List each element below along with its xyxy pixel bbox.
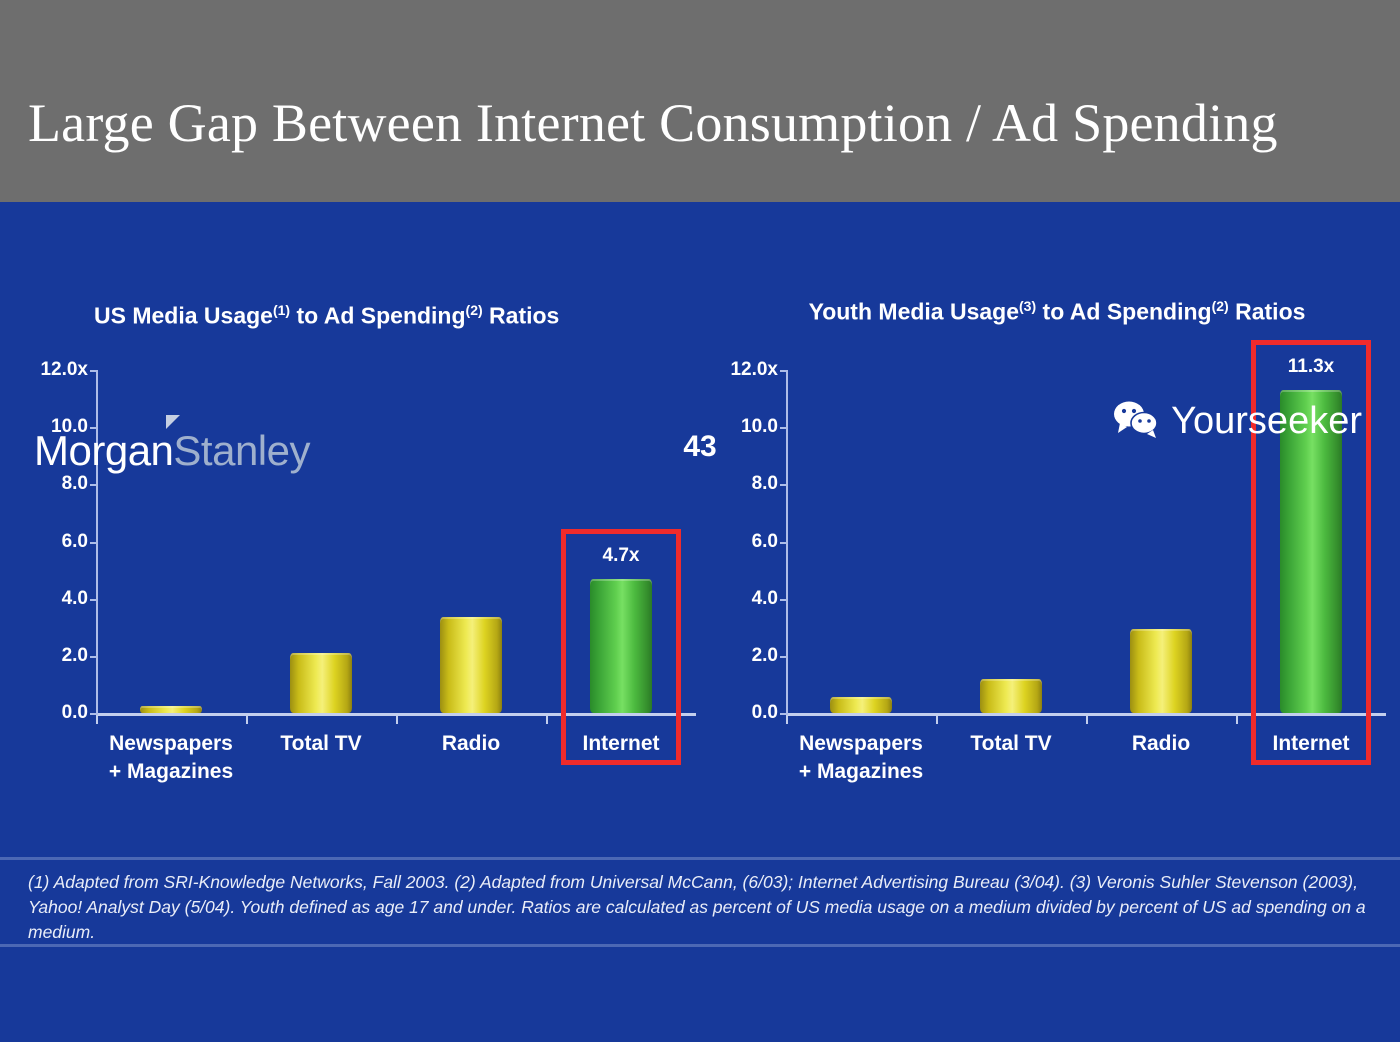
y-tick-label: 8.0 (22, 473, 88, 495)
y-tick-label: 6.0 (712, 531, 778, 553)
y-tick-mark (90, 370, 98, 372)
x-axis-label-line: + Magazines (81, 758, 261, 786)
y-tick-label: 4.0 (22, 588, 88, 610)
x-tick-mark (1086, 715, 1088, 724)
footnote-ref-1: (1) (273, 302, 290, 318)
x-axis-label: Internet (1221, 730, 1400, 758)
x-tick-mark (396, 715, 398, 724)
y-axis-labels-left: 0.02.04.06.08.010.012.0x (22, 370, 88, 720)
y-axis-labels-right: 0.02.04.06.08.010.012.0x (712, 370, 778, 720)
slide-body: US Media Usage(1) to Ad Spending(2) Rati… (0, 202, 1400, 1042)
footnote-divider-top (0, 857, 1400, 860)
footnote-ref-2b: (2) (1212, 298, 1229, 314)
chart-title-right-text1: Youth Media Usage (809, 299, 1019, 325)
chart-title-left-text3: Ratios (483, 303, 560, 329)
footnote-ref-3: (3) (1019, 298, 1036, 314)
bar-slot (396, 370, 546, 713)
y-tick-mark (780, 599, 788, 601)
y-tick-mark (90, 484, 98, 486)
y-tick-mark (780, 370, 788, 372)
bar-total-tv[interactable] (980, 679, 1042, 713)
bar-slot (786, 370, 936, 713)
bar-radio[interactable] (1130, 629, 1192, 713)
x-axis-labels-left: Newspapers+ MagazinesTotal TVRadioIntern… (96, 730, 696, 810)
bar-value-label: 11.3x (1288, 356, 1335, 378)
chart-title-left-text1: US Media Usage (94, 303, 273, 329)
y-tick-mark (90, 599, 98, 601)
chart-title-left: US Media Usage(1) to Ad Spending(2) Rati… (22, 292, 712, 334)
slide: Large Gap Between Internet Consumption /… (0, 0, 1400, 1042)
footnote-ref-2: (2) (466, 302, 483, 318)
bar-newspapers[interactable] (830, 697, 892, 713)
bar-slot (246, 370, 396, 713)
y-tick-mark (90, 656, 98, 658)
brand-watermark: Yourseeker (1113, 400, 1362, 443)
y-tick-label: 12.0x (22, 359, 88, 381)
wechat-icon (1113, 400, 1159, 443)
y-tick-mark (780, 427, 788, 429)
x-axis-labels-right: Newspapers+ MagazinesTotal TVRadioIntern… (786, 730, 1386, 810)
y-tick-label: 12.0x (712, 359, 778, 381)
y-tick-label: 8.0 (712, 473, 778, 495)
bar-radio[interactable] (440, 617, 502, 713)
bar-slot (936, 370, 1086, 713)
x-tick-mark (936, 715, 938, 724)
y-tick-label: 2.0 (22, 645, 88, 667)
y-tick-label: 6.0 (22, 531, 88, 553)
chart-title-right-text2: to Ad Spending (1036, 299, 1211, 325)
chart-title-right-text3: Ratios (1229, 299, 1306, 325)
y-tick-label: 2.0 (712, 645, 778, 667)
bars-left: 4.7x (96, 370, 696, 713)
x-tick-mark (246, 715, 248, 724)
y-tick-label: 0.0 (22, 702, 88, 724)
bar-value-label: 4.7x (603, 545, 640, 567)
footnote-divider-bottom (0, 944, 1400, 947)
x-tick-mark (786, 715, 788, 724)
bar-newspapers[interactable] (140, 706, 202, 713)
bar-total-tv[interactable] (290, 653, 352, 713)
x-axis-label-line: Internet (531, 730, 711, 758)
footnotes: (1) Adapted from SRI-Knowledge Networks,… (28, 870, 1376, 945)
page-title: Large Gap Between Internet Consumption /… (28, 92, 1278, 154)
y-tick-mark (780, 542, 788, 544)
chart-title-left-text2: to Ad Spending (290, 303, 465, 329)
x-axis-label: Internet (531, 730, 711, 758)
brand-name: Yourseeker (1171, 400, 1362, 443)
y-tick-label: 4.0 (712, 588, 778, 610)
x-axis-label-line: Internet (1221, 730, 1400, 758)
x-tick-mark (96, 715, 98, 724)
y-tick-mark (780, 484, 788, 486)
x-axis-label-line: + Magazines (771, 758, 951, 786)
bar-slot: 4.7x (546, 370, 696, 713)
chart-title-right: Youth Media Usage(3) to Ad Spending(2) R… (712, 288, 1400, 330)
x-tick-mark (546, 715, 548, 724)
y-tick-mark (90, 542, 98, 544)
morgan-stanley-triangle-icon (166, 415, 180, 429)
plot-area-left: 0.02.04.06.08.010.012.0x 4.7x Newspapers… (22, 370, 712, 720)
y-tick-mark (780, 656, 788, 658)
x-tick-mark (1236, 715, 1238, 724)
bar-internet[interactable] (590, 579, 652, 713)
y-tick-label: 0.0 (712, 702, 778, 724)
slide-footer (0, 952, 1400, 1042)
